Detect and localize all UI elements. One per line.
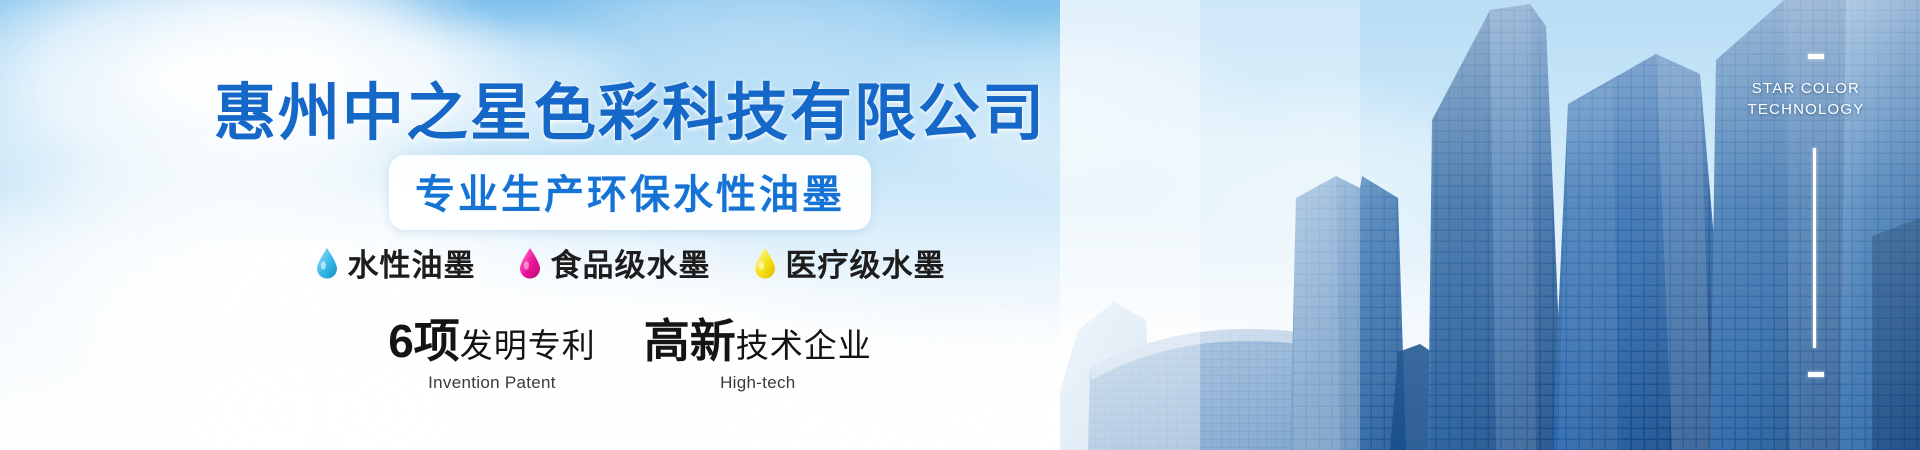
banner-content: 惠州中之星色彩科技有限公司 专业生产环保水性油墨 水性油 [0,0,1260,450]
water-drop-icon [753,247,777,279]
subtitle-pill-wrap: 专业生产环保水性油墨 [0,155,1260,230]
badge-high-tech: 高新技术企业 High-tech [644,318,872,393]
feature-label: 食品级水墨 [551,240,711,285]
feature-item: 医疗级水墨 [753,240,946,285]
badge-main: 6项发明专利 [388,318,596,364]
building-tick-top [1808,54,1824,59]
feature-label: 水性油墨 [348,240,476,285]
company-headline: 惠州中之星色彩科技有限公司 [0,62,1260,152]
feature-item: 水性油墨 [315,240,476,285]
building-label: STAR COLOR TECHNOLOGY [1726,78,1886,120]
water-drop-icon [315,247,339,279]
feature-label: 医疗级水墨 [786,240,946,285]
badge-rest-text: 技术企业 [736,327,872,364]
water-drop-icon [518,247,542,279]
badge-strong-text: 6项 [388,315,460,367]
feature-item: 食品级水墨 [518,240,711,285]
building-tick-line [1813,148,1816,348]
badge-invention-patent: 6项发明专利 Invention Patent [388,318,596,393]
feature-list: 水性油墨 食品级水墨 [0,240,1260,285]
badge-strong-text: 高新 [644,315,736,367]
subtitle-pill: 专业生产环保水性油墨 [389,155,871,230]
promo-banner: Star Color [0,0,1920,450]
badge-list: 6项发明专利 Invention Patent 高新技术企业 High-tech [0,318,1260,393]
badge-main: 高新技术企业 [644,318,872,364]
badge-rest-text: 发明专利 [460,327,596,364]
building-tick-bottom [1808,372,1824,377]
badge-subtitle: Invention Patent [388,373,596,393]
badge-subtitle: High-tech [644,373,872,393]
